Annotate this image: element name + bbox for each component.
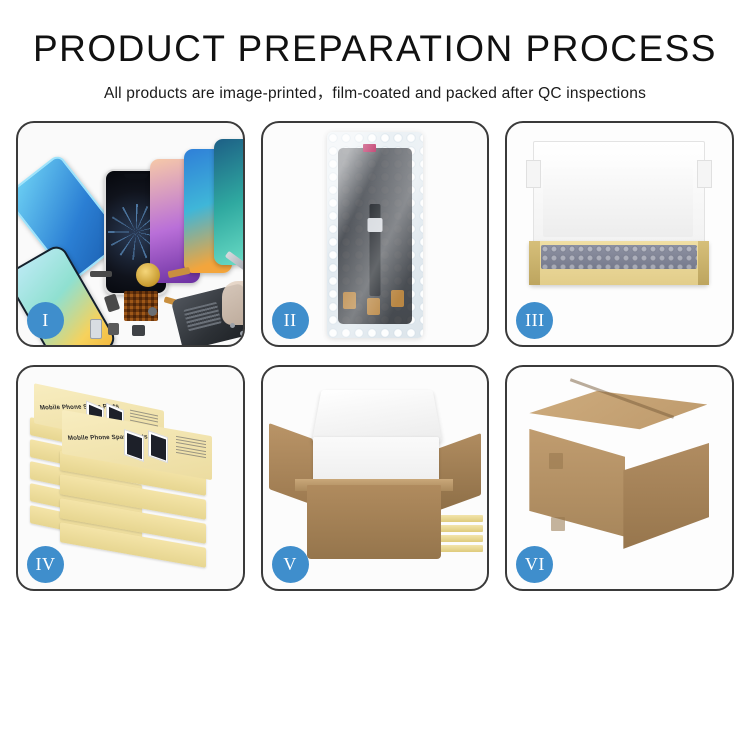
phone-screen-green-icon — [214, 139, 245, 265]
small-part-icon — [132, 325, 145, 336]
panel-foam-box-in-carton[interactable]: V — [261, 365, 490, 591]
small-part-icon — [108, 323, 119, 335]
panel-sealed-shipping-carton[interactable]: VI — [505, 365, 734, 591]
tray-end-icon — [698, 241, 709, 285]
carton-tape-icon — [551, 517, 565, 531]
speaker-coil-icon — [136, 263, 160, 287]
process-panel-grid: I II — [16, 121, 734, 591]
printed-text-lines — [176, 436, 206, 460]
panel-badge-6: VI — [516, 546, 553, 583]
panel-badge-1: I — [27, 302, 64, 339]
camera-module-icon — [104, 293, 120, 312]
foam-lid-open-icon — [311, 390, 441, 442]
bag-sheen-icon — [327, 132, 423, 338]
carton-flap-right-icon — [437, 433, 481, 511]
panel-phone-screens-and-parts[interactable]: I — [16, 121, 245, 347]
phone-notch-icon — [124, 174, 148, 179]
page-header: PRODUCT PREPARATION PROCESS All products… — [0, 0, 750, 103]
screw-icon — [148, 307, 157, 316]
page-title: PRODUCT PREPARATION PROCESS — [0, 30, 750, 69]
battery-connector-icon — [90, 271, 112, 277]
screw-icon — [230, 323, 235, 328]
panel-bubble-wrapped-screen[interactable]: II — [261, 121, 490, 347]
tray-end-icon — [529, 241, 540, 285]
carton-body-icon — [307, 485, 441, 559]
panel-badge-3: III — [516, 302, 553, 339]
page-subtitle: All products are image-printed，film-coat… — [0, 81, 750, 103]
sim-tray-icon — [90, 319, 102, 339]
carton-front-face-icon — [529, 429, 625, 537]
panel-badge-5: V — [272, 546, 309, 583]
gold-tray-icon — [529, 241, 709, 285]
carton-tape-icon — [549, 453, 563, 469]
carton-side-face-icon — [623, 443, 709, 549]
bubble-wrapped-contents-icon — [541, 245, 697, 269]
screw-icon — [240, 331, 245, 336]
logic-board-icon — [124, 291, 158, 321]
bubble-wrap-bag-icon — [327, 132, 423, 338]
foam-sheet-icon — [543, 167, 693, 237]
printed-phone-image — [148, 430, 168, 463]
panel-badge-4: IV — [27, 546, 64, 583]
lid-tab-icon — [697, 160, 712, 188]
panel-open-gold-tray-box[interactable]: III — [505, 121, 734, 347]
lid-tab-icon — [526, 160, 541, 188]
panel-badge-2: II — [272, 302, 309, 339]
panel-stacked-retail-boxes[interactable]: Mobile Phone Spare Parts Mobile Phone Sp… — [16, 365, 245, 591]
hand-icon — [222, 281, 245, 325]
